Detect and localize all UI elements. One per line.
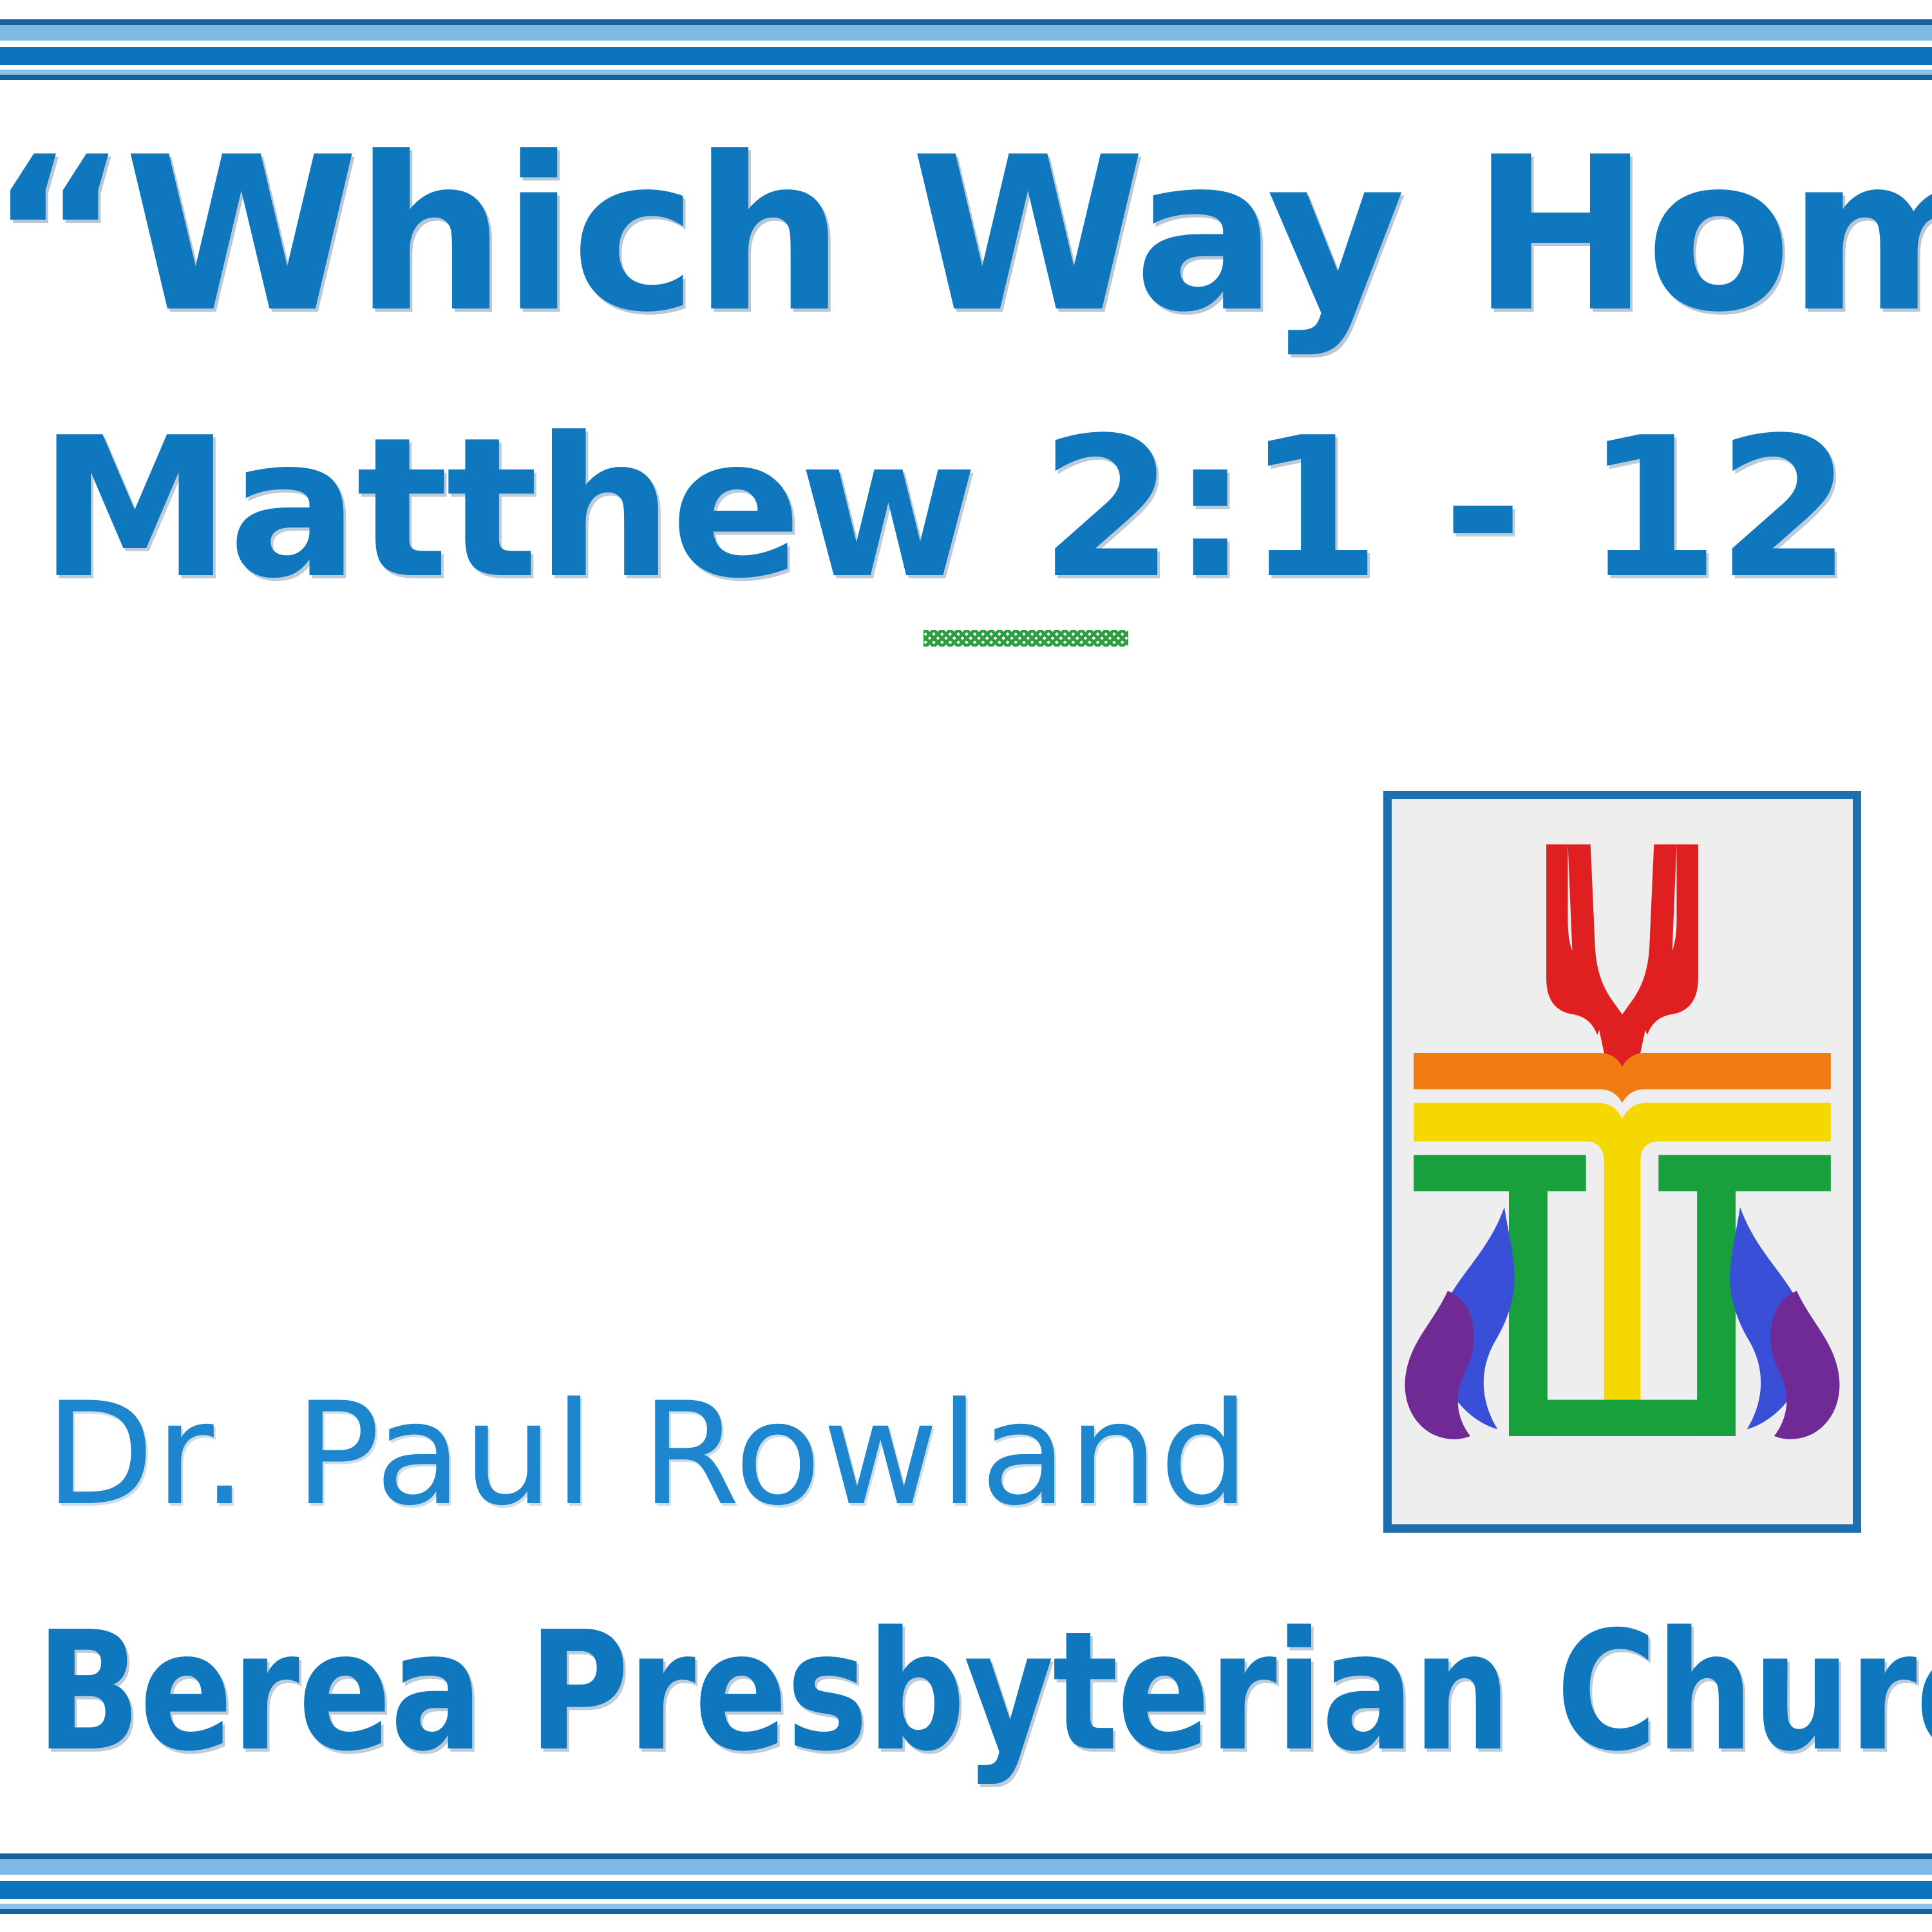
chalice-shape <box>1546 844 1698 1078</box>
rule-hairline-bot-2 <box>0 1909 1932 1914</box>
rule-light-band-top-2 <box>0 1859 1932 1875</box>
rule-gap-top <box>0 41 1932 47</box>
flame-right-group <box>1730 1207 1839 1439</box>
rule-hairline-top <box>0 19 1932 25</box>
presentation-slide: “Which Way Home?” Matthew 2:1 - 12 <box>0 0 1932 1932</box>
presbyterian-seal-icon <box>1396 803 1849 1520</box>
rule-thick-band-2 <box>0 1881 1932 1899</box>
page-title: “Which Way Home?” <box>0 129 1932 341</box>
rule-gap-bottom-2 <box>0 1899 1932 1904</box>
rule-hairline-bot <box>0 75 1932 80</box>
rule-light-band-top <box>0 25 1932 41</box>
rule-gap-bottom <box>0 65 1932 70</box>
logo-frame <box>1383 791 1861 1533</box>
scripture-book: Matthew <box>39 396 975 621</box>
flame-left-group <box>1405 1207 1515 1439</box>
organization-name: Berea Presbyterian Church <box>36 1610 1932 1774</box>
rule-gap-top-2 <box>0 1875 1932 1881</box>
rule-hairline-top-2 <box>0 1853 1932 1859</box>
rule-light-band-bot-2 <box>0 1904 1932 1909</box>
rule-thick-band <box>0 47 1932 65</box>
presbyterian-cross-svg <box>1396 803 1849 1520</box>
scripture-line: Matthew 2:1 - 12 <box>39 412 1849 605</box>
speaker-name: Dr. Paul Rowland <box>45 1383 1251 1525</box>
rule-light-band-bot <box>0 70 1932 75</box>
spellcheck-squiggle-underline <box>923 630 1128 647</box>
bottom-decorative-rule <box>0 1853 1932 1913</box>
top-decorative-rule <box>0 19 1932 79</box>
scripture-reference: 2:1 - 12 <box>1039 412 1848 605</box>
